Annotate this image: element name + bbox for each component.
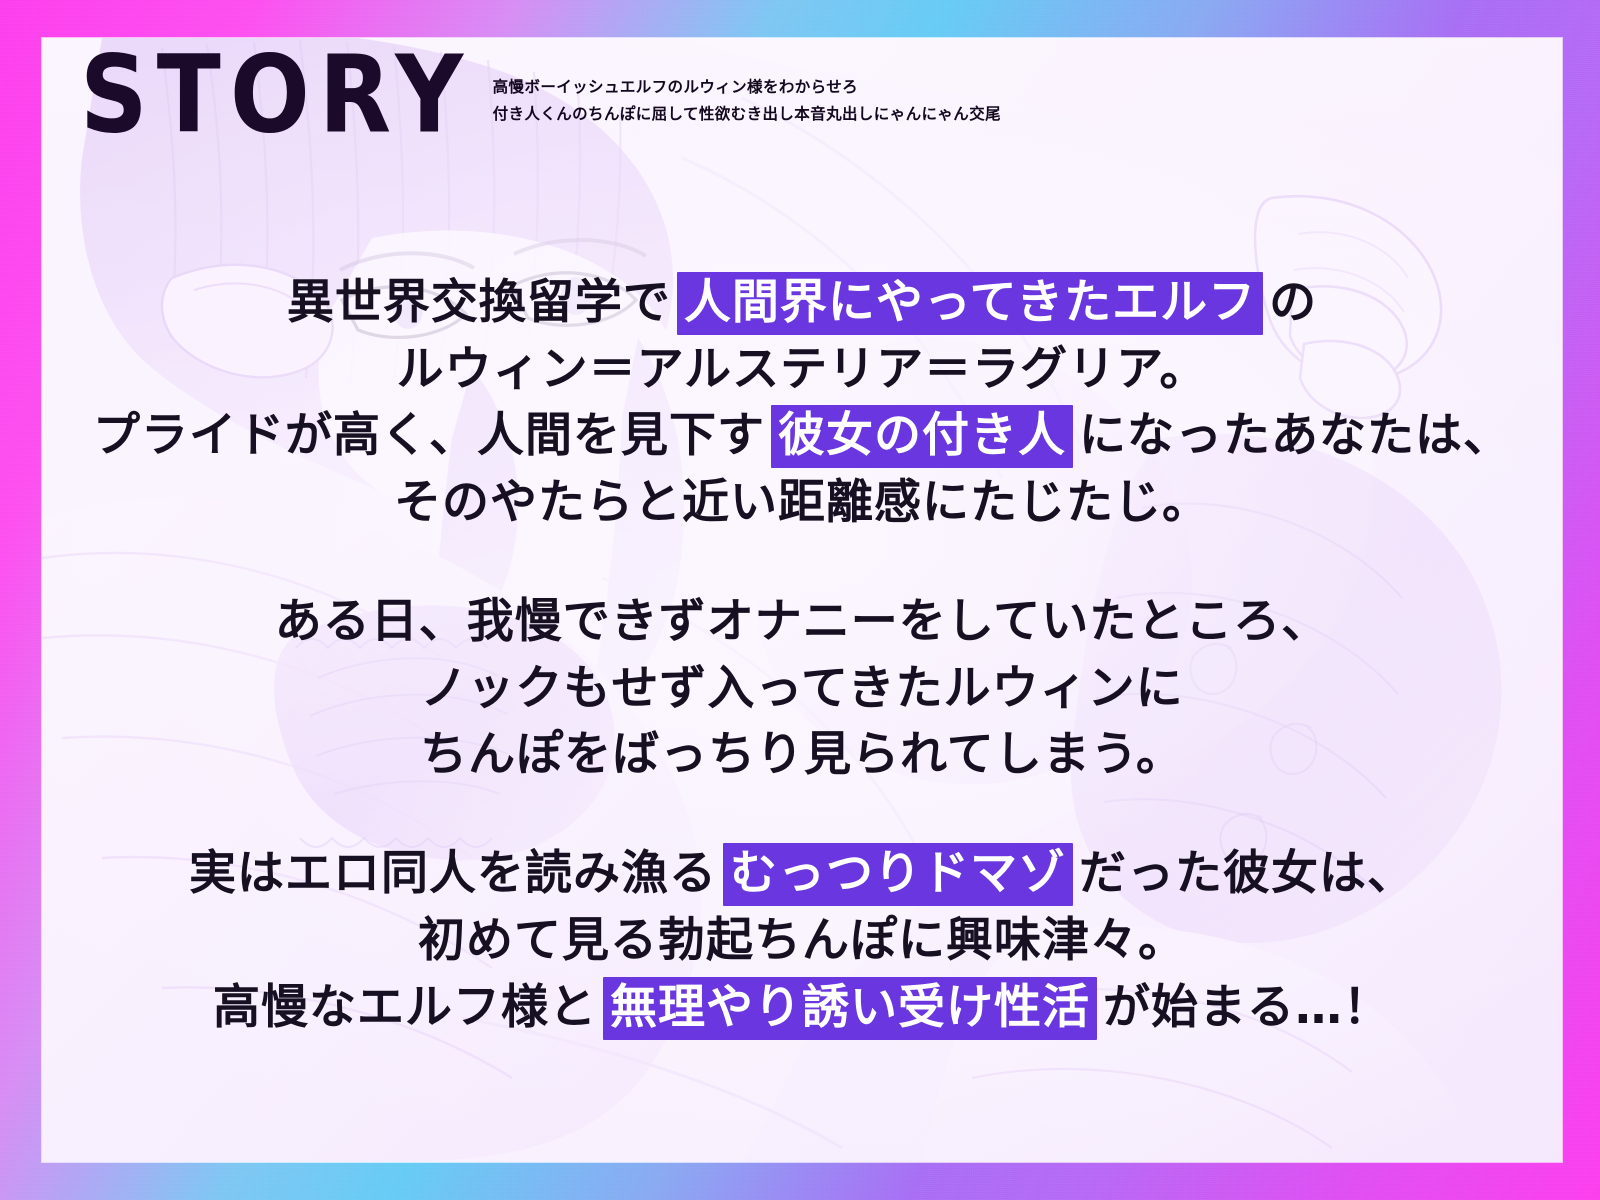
story-line: そのやたらと近い距離感にたじたじ。 <box>42 470 1562 537</box>
story-line: 高慢なエルフ様と無理やり誘い受け性活が始まる…！ <box>42 975 1562 1042</box>
story-line: プライドが高く、人間を見下す彼女の付き人になったあなたは、 <box>42 403 1562 470</box>
story-line: 異世界交換留学で人間界にやってきたエルフの <box>42 270 1562 337</box>
story-line: ある日、我慢できずオナニーをしていたところ、 <box>42 589 1562 656</box>
story-text-run: 異世界交換留学で <box>287 275 671 330</box>
story-text-run: ちんぽをばっちり見られてしまう。 <box>420 727 1184 782</box>
story-paragraph: ある日、我慢できずオナニーをしていたところ、ノックもせず入ってきたルウィンにちん… <box>42 589 1562 789</box>
story-body: 異世界交換留学で人間界にやってきたエルフのルウィン＝アルステリア＝ラグリア。プラ… <box>42 270 1562 1041</box>
story-text-run: だった彼女は、 <box>1079 846 1415 901</box>
page-title: STORY <box>80 44 472 149</box>
story-text-run: ルウィン＝アルステリア＝ラグリア。 <box>397 342 1208 397</box>
subtitle-line-2: 付き人くんのちんぽに屈して性欲むき出し本音丸出しにゃんにゃん交尾 <box>493 101 1001 128</box>
highlighted-phrase: むっつりドマゾ <box>723 843 1073 906</box>
story-text-run: 初めて見る勃起ちんぽに興味津々。 <box>418 913 1186 968</box>
story-text-run: の <box>1269 275 1317 330</box>
story-text-run: 実はエロ同人を読み漁る <box>189 846 717 901</box>
subtitle-line-1: 高慢ボーイッシュエルフのルウィン様をわからせろ <box>493 74 1001 101</box>
story-line: 実はエロ同人を読み漁るむっつりドマゾだった彼女は、 <box>42 841 1562 908</box>
story-line: ルウィン＝アルステリア＝ラグリア。 <box>42 337 1562 404</box>
story-paragraph: 異世界交換留学で人間界にやってきたエルフのルウィン＝アルステリア＝ラグリア。プラ… <box>42 270 1562 537</box>
story-text-run: が始まる…！ <box>1103 980 1391 1035</box>
content-panel: STORY 高慢ボーイッシュエルフのルウィン様をわからせろ 付き人くんのちんぽに… <box>42 38 1562 1162</box>
story-line: ノックもせず入ってきたルウィンに <box>42 656 1562 723</box>
highlighted-phrase: 無理やり誘い受け性活 <box>603 977 1097 1040</box>
story-line: ちんぽをばっちり見られてしまう。 <box>42 722 1562 789</box>
story-paragraph: 実はエロ同人を読み漁るむっつりドマゾだった彼女は、初めて見る勃起ちんぽに興味津々… <box>42 841 1562 1041</box>
story-text-run: になったあなたは、 <box>1079 408 1511 463</box>
highlighted-phrase: 彼女の付き人 <box>771 405 1073 468</box>
header: STORY 高慢ボーイッシュエルフのルウィン様をわからせろ 付き人くんのちんぽに… <box>80 58 1001 148</box>
story-line: 初めて見る勃起ちんぽに興味津々。 <box>42 908 1562 975</box>
story-text-run: 高慢なエルフ様と <box>213 980 597 1035</box>
highlighted-phrase: 人間界にやってきたエルフ <box>677 272 1263 335</box>
subtitle-block: 高慢ボーイッシュエルフのルウィン様をわからせろ 付き人くんのちんぽに屈して性欲む… <box>493 74 1001 148</box>
story-text-run: そのやたらと近い距離感にたじたじ。 <box>394 475 1210 530</box>
story-text-run: ノックもせず入ってきたルウィンに <box>420 661 1183 716</box>
story-text-run: ある日、我慢できずオナニーをしていたところ、 <box>275 594 1330 649</box>
story-banner: STORY 高慢ボーイッシュエルフのルウィン様をわからせろ 付き人くんのちんぽに… <box>0 0 1600 1200</box>
story-text-run: プライドが高く、人間を見下す <box>93 408 765 463</box>
